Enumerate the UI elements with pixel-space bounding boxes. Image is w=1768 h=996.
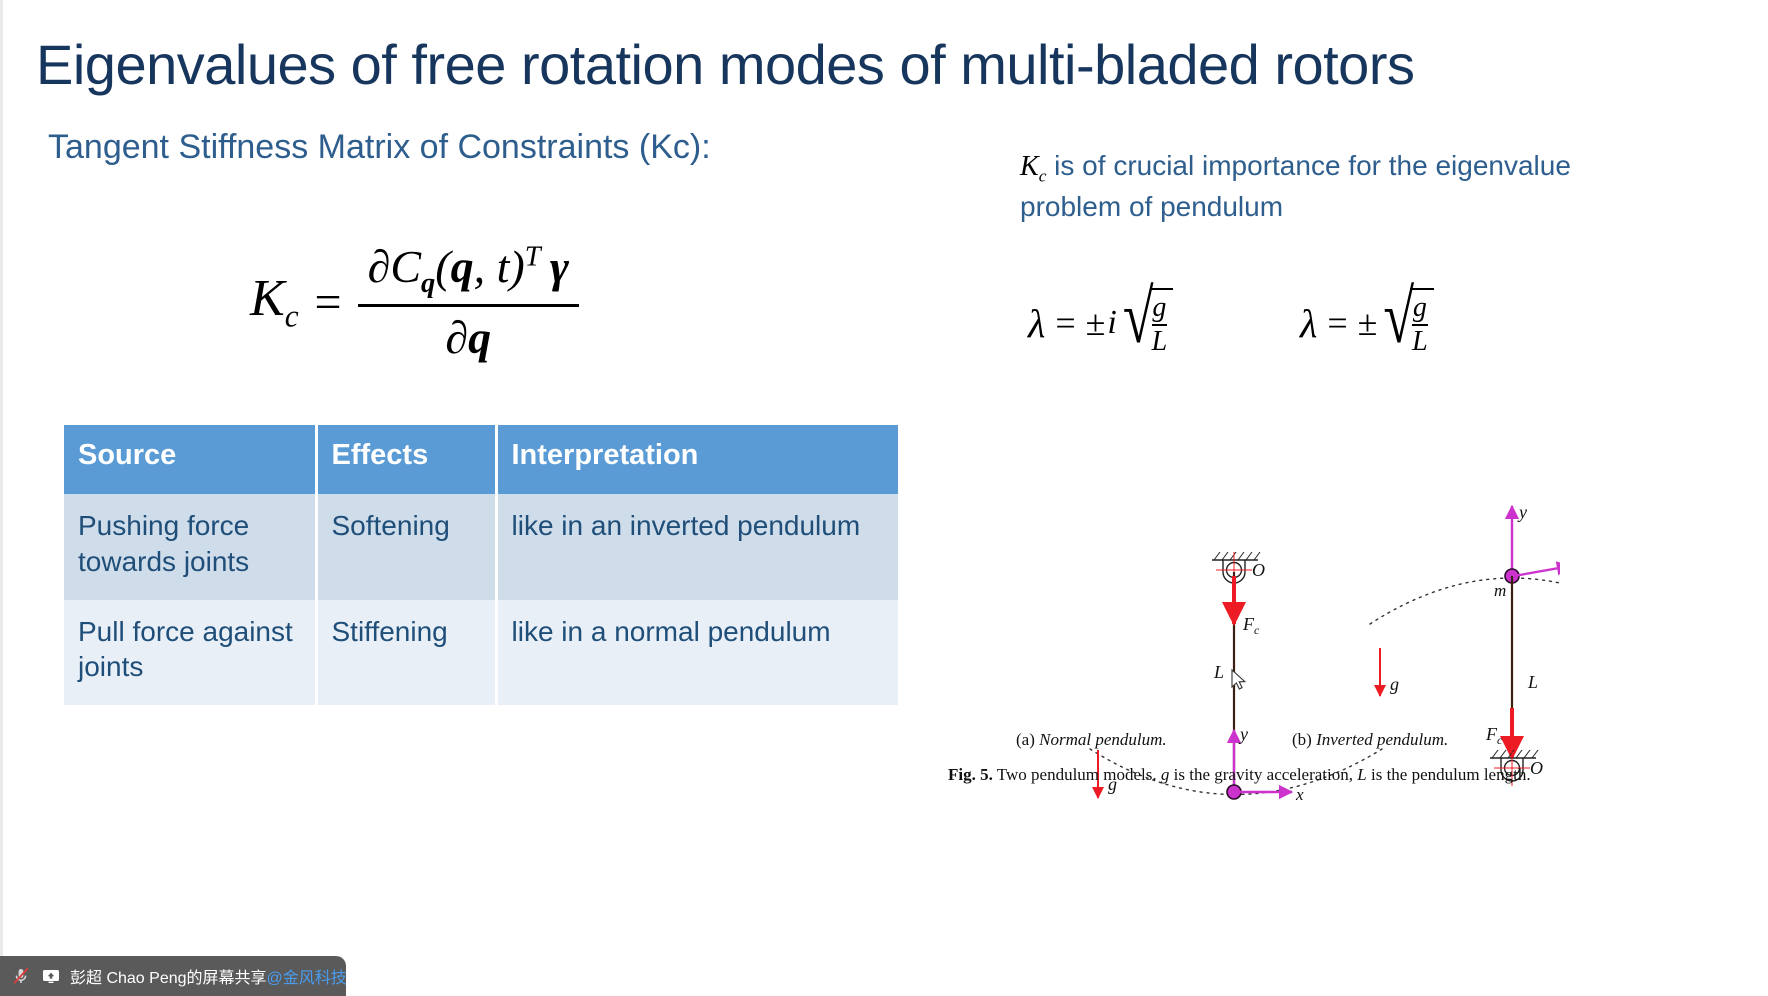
radicand-denominator: L [1152, 326, 1168, 358]
figure-subcaption-b: (b) Inverted pendulum. [1292, 730, 1448, 750]
cell-effects: Stiffening [316, 600, 496, 706]
radical-icon: √ [1383, 280, 1414, 375]
table-header-source: Source [64, 425, 316, 494]
inverted-pendulum-mass-label: m [1494, 581, 1506, 600]
slide-left-edge [0, 0, 3, 996]
radicand-numerator: g [1152, 292, 1166, 324]
eigenvalue-formula-inverted: λ = ± √ g L [1300, 288, 1434, 358]
slide-canvas: Eigenvalues of free rotation modes of mu… [0, 0, 1768, 996]
page-title: Eigenvalues of free rotation modes of mu… [36, 36, 1736, 95]
screen-share-icon[interactable] [40, 965, 62, 987]
section-subtitle: Tangent Stiffness Matrix of Constraints … [48, 128, 711, 167]
formula-fraction: ∂Cq(q, t)T γ ∂q [358, 240, 579, 364]
mic-muted-icon[interactable] [10, 965, 32, 987]
cell-source: Pull force against joints [64, 600, 316, 706]
radicand-denominator: L [1412, 326, 1428, 358]
plusminus-symbol: ± [1358, 302, 1378, 344]
lambda-symbol: λ [1300, 300, 1317, 347]
lambda-symbol: λ [1028, 300, 1045, 347]
normal-pendulum-force-label: Fc [1242, 614, 1260, 637]
cell-effects: Softening [316, 494, 496, 600]
formula-lhs: Kc [250, 269, 299, 334]
formula-equals: = [315, 275, 342, 330]
table-header-effects: Effects [316, 425, 496, 494]
radical-icon: √ [1123, 280, 1154, 375]
kc-importance-note: Kc is of crucial importance for the eige… [1020, 148, 1580, 225]
screen-share-org: @金风科技 [267, 970, 347, 987]
table-row: Pushing force towards joints Softening l… [64, 494, 898, 600]
radicand-numerator: g [1413, 292, 1427, 324]
normal-pendulum-x-label: x [1295, 785, 1304, 800]
eigenvalue-formula-normal: λ = ± i √ g L [1028, 288, 1173, 358]
equals-symbol: = [1055, 302, 1075, 344]
screen-share-label: 彭超 Chao Peng的屏幕共享@金风科技 [70, 964, 347, 988]
inverted-pendulum-y-label: y [1517, 502, 1527, 522]
figure-caption-prefix: Fig. 5. [948, 765, 993, 784]
square-root-group: √ g L [1123, 288, 1173, 358]
normal-pendulum-y-label: y [1238, 724, 1248, 744]
figure-caption: Fig. 5. Two pendulum models. g is the gr… [948, 765, 1568, 785]
inverted-pendulum-force-label: Fc [1485, 724, 1503, 747]
tangent-stiffness-formula: Kc = ∂Cq(q, t)T γ ∂q [250, 240, 720, 364]
imaginary-unit: i [1107, 304, 1116, 342]
cell-interpretation: like in an inverted pendulum [496, 494, 898, 600]
inverted-pendulum-length-label: L [1527, 672, 1538, 692]
kc-effects-table: Source Effects Interpretation Pushing fo… [64, 425, 898, 705]
equals-symbol: = [1327, 302, 1347, 344]
formula-denominator: ∂q [435, 307, 501, 364]
normal-pendulum-mass-label: m [1224, 797, 1236, 800]
inverted-pendulum-x-axis-arrow [1514, 566, 1560, 576]
plusminus-symbol: ± [1086, 302, 1106, 344]
table-header-interpretation: Interpretation [496, 425, 898, 494]
normal-pendulum-support-hatching [1212, 552, 1260, 560]
square-root-group: √ g L [1383, 288, 1433, 358]
table-header-row: Source Effects Interpretation [64, 425, 898, 494]
kc-note-text: is of crucial importance for the eigenva… [1020, 150, 1571, 222]
kc-symbol: Kc [1020, 151, 1046, 182]
inverted-pendulum-gravity-label: g [1390, 674, 1399, 694]
screen-share-presenter: 彭超 Chao Peng的屏幕共享 [70, 970, 267, 987]
normal-pendulum-pivot-label: O [1252, 560, 1265, 580]
figure-subcaption-a: (a) Normal pendulum. [1016, 730, 1167, 750]
table-row: Pull force against joints Stiffening lik… [64, 600, 898, 706]
cell-interpretation: like in a normal pendulum [496, 600, 898, 706]
cell-source: Pushing force towards joints [64, 494, 316, 600]
inverted-pendulum-trajectory [1370, 578, 1560, 624]
normal-pendulum-length-label: L [1213, 662, 1224, 682]
formula-numerator: ∂Cq(q, t)T γ [358, 240, 579, 304]
screen-share-taskbar[interactable]: 彭超 Chao Peng的屏幕共享@金风科技 [0, 956, 346, 996]
